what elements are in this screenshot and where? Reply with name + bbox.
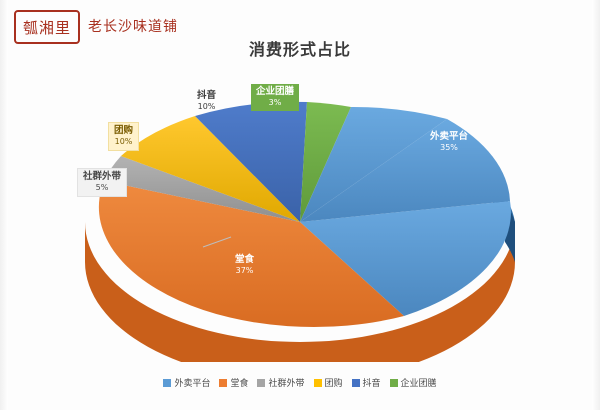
pie-chart-svg [55, 72, 545, 362]
legend-label-waimai: 外卖平台 [174, 376, 210, 389]
legend-item-qiye: 企业团膳 [390, 376, 437, 389]
legend-item-tuangou: 团购 [314, 376, 343, 389]
pie-label-shequn: 社群外带 5% [77, 168, 127, 197]
legend-swatch-waimai [163, 379, 171, 387]
legend-item-shequn: 社群外带 [257, 376, 304, 389]
pie-label-douyin-name: 抖音 [197, 90, 216, 101]
legend-item-waimai: 外卖平台 [163, 376, 210, 389]
chart-title: 消费形式占比 [0, 36, 600, 60]
page-edge-right [592, 0, 600, 410]
pie-label-qiye-name: 企业团膳 [256, 86, 294, 97]
legend-swatch-tangshi [219, 379, 227, 387]
pie-label-qiye-value: 3% [256, 97, 294, 108]
pie-label-douyin: 抖音 10% [192, 88, 221, 115]
pie-label-qiye: 企业团膳 3% [251, 84, 299, 111]
legend-swatch-douyin [352, 379, 360, 387]
chart-legend: 外卖平台 堂食 社群外带 团购 抖音 企业团膳 [0, 376, 600, 389]
pie-label-douyin-value: 10% [197, 101, 216, 112]
pie-label-waimai-name: 外卖平台 [430, 131, 468, 142]
pie-label-tangshi-value: 37% [235, 265, 254, 276]
legend-swatch-tuangou [314, 379, 322, 387]
legend-item-tangshi: 堂食 [219, 376, 248, 389]
legend-label-tuangou: 团购 [325, 376, 343, 389]
pie-label-waimai: 外卖平台 35% [425, 129, 473, 156]
legend-swatch-shequn [257, 379, 265, 387]
pie-label-tangshi: 堂食 37% [230, 252, 259, 279]
pie-label-tangshi-name: 堂食 [235, 254, 254, 265]
page-edge-left [0, 0, 8, 410]
legend-label-shequn: 社群外带 [268, 376, 304, 389]
pie-label-waimai-value: 35% [430, 142, 468, 153]
brand-logo-subtitle: 老长沙味道铺 [88, 16, 178, 36]
legend-label-qiye: 企业团膳 [401, 376, 437, 389]
pie-label-tuangou: 团购 10% [108, 122, 139, 151]
pie-chart: 外卖平台 35% 堂食 37% 社群外带 5% 团购 10% 抖音 10% 企业… [55, 72, 545, 362]
legend-label-douyin: 抖音 [363, 376, 381, 389]
legend-item-douyin: 抖音 [352, 376, 381, 389]
pie-label-shequn-name: 社群外带 [83, 171, 121, 182]
pie-label-tuangou-name: 团购 [114, 125, 133, 136]
brand-logo-text: 瓠湘里 [23, 17, 71, 38]
pie-label-shequn-value: 5% [83, 182, 121, 193]
pie-label-tuangou-value: 10% [114, 136, 133, 147]
legend-swatch-qiye [390, 379, 398, 387]
chart-canvas: 瓠湘里 老长沙味道铺 消费形式占比 [0, 0, 600, 410]
legend-label-tangshi: 堂食 [230, 376, 248, 389]
